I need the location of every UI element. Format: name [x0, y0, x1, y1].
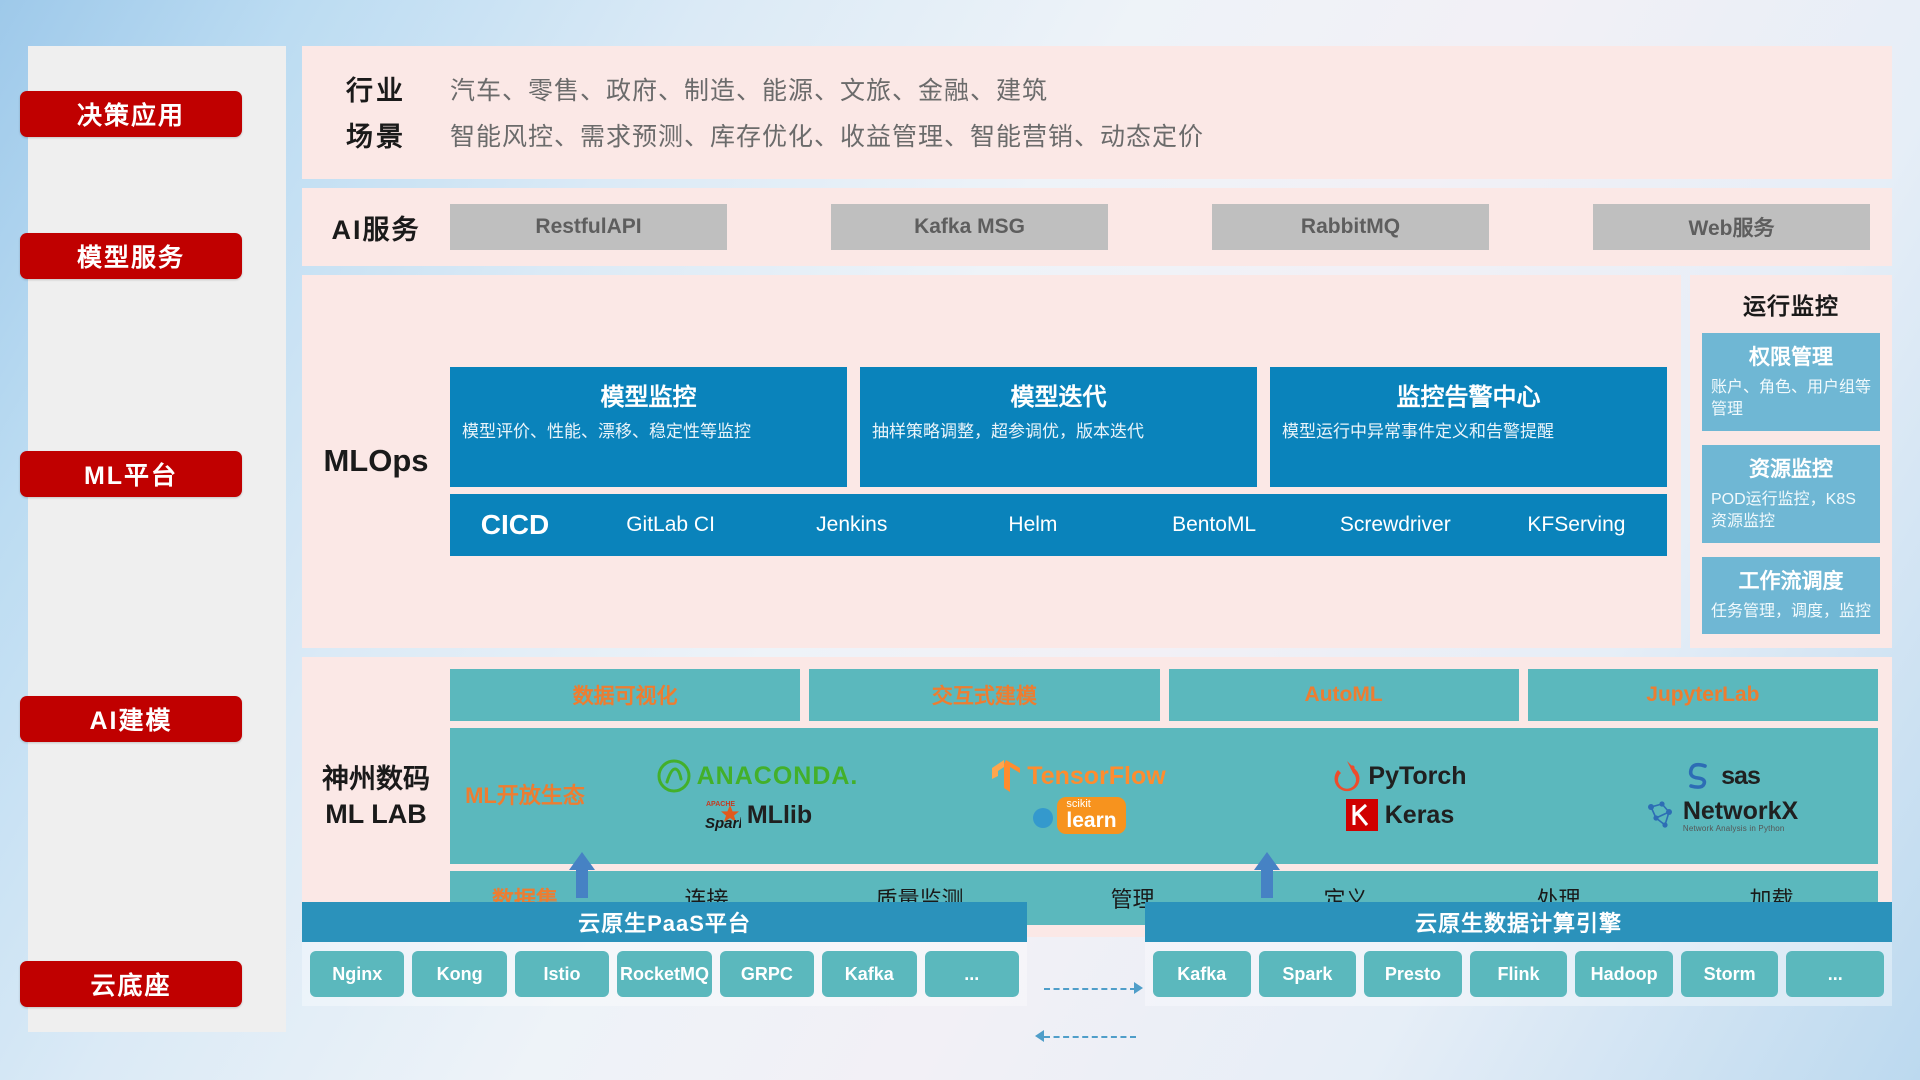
cicd-item[interactable]: GitLab CI — [580, 512, 761, 538]
mlops-card-model-monitoring[interactable]: 模型监控 模型评价、性能、漂移、稳定性等监控 — [450, 367, 847, 487]
scenario-row: 场景 智能风控、需求预测、库存优化、收益管理、智能营销、动态定价 — [302, 115, 1892, 154]
main-stack: 行业 汽车、零售、政府、制造、能源、文旅、金融、建筑 场景 智能风控、需求预测、… — [302, 46, 1892, 937]
ai-service-label: AI服务 — [302, 208, 450, 247]
sas-label: sas — [1721, 762, 1760, 791]
mlops-band: MLOps 模型监控 模型评价、性能、漂移、稳定性等监控 模型迭代 抽样策略调整… — [302, 275, 1892, 648]
engine-chip[interactable]: Hadoop — [1575, 951, 1673, 997]
anaconda-logo[interactable]: ANACONDA. — [657, 759, 859, 793]
tab-automl[interactable]: AutoML — [1169, 669, 1519, 721]
mlops-left: MLOps 模型监控 模型评价、性能、漂移、稳定性等监控 模型迭代 抽样策略调整… — [302, 275, 1681, 648]
engine-chip[interactable]: Presto — [1364, 951, 1462, 997]
monitor-card-workflow[interactable]: 工作流调度 任务管理，调度，监控 — [1702, 557, 1880, 634]
cicd-item[interactable]: Helm — [942, 512, 1123, 538]
industry-label: 行业 — [302, 69, 450, 108]
ai-service-chip[interactable]: RestfulAPI — [450, 204, 727, 250]
networkx-sublabel: Network Analysis in Python — [1683, 824, 1798, 833]
spark-mllib-logo[interactable]: APACHE Spark MLlib — [703, 797, 812, 833]
paas-chip[interactable]: GRPC — [720, 951, 814, 997]
modeling-tab-row: 数据可视化 交互式建模 AutoML JupyterLab — [450, 669, 1878, 721]
pytorch-logo[interactable]: PyTorch — [1332, 759, 1466, 793]
sidebar-item-cloud-base[interactable]: 云底座 — [20, 961, 242, 1007]
arrow-up-paas-icon — [569, 852, 595, 898]
paas-platform-box: 云原生PaaS平台 Nginx Kong Istio RocketMQ GRPC… — [302, 902, 1027, 1006]
monitor-card-resource[interactable]: 资源监控 POD运行监控，K8S资源监控 — [1702, 445, 1880, 543]
card-desc: 任务管理，调度，监控 — [1711, 601, 1871, 623]
ai-service-chip[interactable]: Web服务 — [1593, 204, 1870, 250]
card-desc: 模型运行中异常事件定义和告警提醒 — [1282, 421, 1655, 444]
ml-lab-label-line1: 神州数码 — [302, 762, 450, 797]
paas-platform-title: 云原生PaaS平台 — [302, 902, 1027, 942]
card-title: 模型监控 — [462, 377, 835, 412]
ecosystem-logo-grid: ANACONDA. TensorFlow — [600, 758, 1878, 834]
networkx-label: NetworkX — [1683, 798, 1798, 824]
paas-chip-more[interactable]: ... — [925, 951, 1019, 997]
arrow-up-engine-icon — [1254, 852, 1280, 898]
anaconda-label: ANACONDA. — [697, 762, 859, 791]
ml-ecosystem-label: ML开放生态 — [450, 782, 600, 811]
card-desc: POD运行监控，K8S资源监控 — [1711, 489, 1871, 532]
mlops-card-row: 模型监控 模型评价、性能、漂移、稳定性等监控 模型迭代 抽样策略调整，超参调优，… — [450, 367, 1667, 487]
mlops-body: 模型监控 模型评价、性能、漂移、稳定性等监控 模型迭代 抽样策略调整，超参调优，… — [450, 367, 1681, 556]
engine-chip[interactable]: Storm — [1681, 951, 1779, 997]
paas-chip[interactable]: Kafka — [822, 951, 916, 997]
paas-chip[interactable]: RocketMQ — [617, 951, 711, 997]
paas-chip[interactable]: Nginx — [310, 951, 404, 997]
runtime-monitor-title: 运行监控 — [1702, 287, 1880, 321]
scikit-learn-logo[interactable]: scikit learn — [1031, 797, 1125, 834]
engine-chip-more[interactable]: ... — [1786, 951, 1884, 997]
industry-scenario-band: 行业 汽车、零售、政府、制造、能源、文旅、金融、建筑 场景 智能风控、需求预测、… — [302, 46, 1892, 179]
runtime-monitor-panel: 运行监控 权限管理 账户、角色、用户组等管理 资源监控 POD运行监控，K8S资… — [1690, 275, 1892, 648]
diagram-canvas: 决策应用 模型服务 ML平台 AI建模 云底座 行业 汽车、零售、政府、制造、能… — [0, 0, 1920, 1080]
ai-service-band: AI服务 RestfulAPI Kafka MSG RabbitMQ Web服务 — [302, 188, 1892, 266]
sidebar-item-model-service[interactable]: 模型服务 — [20, 233, 242, 279]
data-compute-engine-title: 云原生数据计算引擎 — [1145, 902, 1892, 942]
connector-left-arrow-icon — [1035, 1030, 1044, 1042]
sidebar-item-decision-app[interactable]: 决策应用 — [20, 91, 242, 137]
cicd-item[interactable]: Jenkins — [761, 512, 942, 538]
cicd-item[interactable]: BentoML — [1124, 512, 1305, 538]
layer-rail: 决策应用 模型服务 ML平台 AI建模 云底座 — [28, 46, 286, 1032]
ai-service-chip[interactable]: Kafka MSG — [831, 204, 1108, 250]
pytorch-label: PyTorch — [1368, 762, 1466, 791]
cicd-row: CICD GitLab CI Jenkins Helm BentoML Scre… — [450, 494, 1667, 556]
keras-label: Keras — [1385, 801, 1455, 830]
engine-chip[interactable]: Kafka — [1153, 951, 1251, 997]
ml-ecosystem-row: ML开放生态 ANACONDA. — [450, 728, 1878, 864]
mlops-label: MLOps — [302, 443, 450, 479]
connector-right-line — [1044, 988, 1136, 990]
engine-chip-row: Kafka Spark Presto Flink Hadoop Storm ..… — [1145, 942, 1892, 1006]
card-title: 资源监控 — [1711, 453, 1871, 483]
card-desc: 账户、角色、用户组等管理 — [1711, 377, 1871, 420]
connector-right-arrow-icon — [1134, 982, 1143, 994]
ai-service-chip-row: RestfulAPI Kafka MSG RabbitMQ Web服务 — [450, 204, 1892, 250]
mllib-label: MLlib — [747, 801, 812, 830]
tab-jupyterlab[interactable]: JupyterLab — [1528, 669, 1878, 721]
mlops-card-model-iteration[interactable]: 模型迭代 抽样策略调整，超参调优，版本迭代 — [860, 367, 1257, 487]
networkx-logo[interactable]: NetworkX Network Analysis in Python — [1643, 798, 1798, 833]
cicd-item[interactable]: KFServing — [1486, 512, 1667, 538]
mlops-card-alert-center[interactable]: 监控告警中心 模型运行中异常事件定义和告警提醒 — [1270, 367, 1667, 487]
paas-chip[interactable]: Kong — [412, 951, 506, 997]
keras-logo[interactable]: Keras — [1345, 798, 1455, 832]
ai-service-chip[interactable]: RabbitMQ — [1212, 204, 1489, 250]
svg-text:Spark: Spark — [705, 815, 741, 832]
tab-interactive-modeling[interactable]: 交互式建模 — [809, 669, 1159, 721]
card-title: 监控告警中心 — [1282, 377, 1655, 412]
card-title: 工作流调度 — [1711, 565, 1871, 595]
paas-chip[interactable]: Istio — [515, 951, 609, 997]
engine-chip[interactable]: Spark — [1259, 951, 1357, 997]
industry-row: 行业 汽车、零售、政府、制造、能源、文旅、金融、建筑 — [302, 69, 1892, 108]
tensorflow-logo[interactable]: TensorFlow — [991, 759, 1165, 793]
sas-logo[interactable]: sas — [1681, 760, 1760, 792]
tab-data-visualization[interactable]: 数据可视化 — [450, 669, 800, 721]
cicd-label: CICD — [450, 509, 580, 541]
industry-value: 汽车、零售、政府、制造、能源、文旅、金融、建筑 — [450, 71, 1048, 107]
card-desc: 抽样策略调整，超参调优，版本迭代 — [872, 421, 1245, 444]
tensorflow-label: TensorFlow — [1027, 762, 1165, 791]
card-desc: 模型评价、性能、漂移、稳定性等监控 — [462, 421, 835, 444]
sidebar-item-ai-modeling[interactable]: AI建模 — [20, 696, 242, 742]
sidebar-item-ml-platform[interactable]: ML平台 — [20, 451, 242, 497]
cicd-item-list: GitLab CI Jenkins Helm BentoML Screwdriv… — [580, 512, 1667, 538]
ml-lab-label-line2: ML LAB — [302, 797, 450, 832]
cloud-base-section: 云原生PaaS平台 Nginx Kong Istio RocketMQ GRPC… — [302, 858, 1892, 1048]
data-compute-engine-box: 云原生数据计算引擎 Kafka Spark Presto Flink Hadoo… — [1145, 902, 1892, 1006]
card-title: 模型迭代 — [872, 377, 1245, 412]
paas-chip-row: Nginx Kong Istio RocketMQ GRPC Kafka ... — [302, 942, 1027, 1006]
engine-chip[interactable]: Flink — [1470, 951, 1568, 997]
monitor-card-permission[interactable]: 权限管理 账户、角色、用户组等管理 — [1702, 333, 1880, 431]
connector-left-line — [1044, 1036, 1136, 1038]
cicd-item[interactable]: Screwdriver — [1305, 512, 1486, 538]
scenario-label: 场景 — [302, 115, 450, 154]
learn-label: learn — [1066, 810, 1116, 832]
ml-lab-label: 神州数码 ML LAB — [302, 762, 450, 832]
svg-text:APACHE: APACHE — [706, 801, 735, 808]
scenario-value: 智能风控、需求预测、库存优化、收益管理、智能营销、动态定价 — [450, 117, 1204, 153]
card-title: 权限管理 — [1711, 341, 1871, 371]
